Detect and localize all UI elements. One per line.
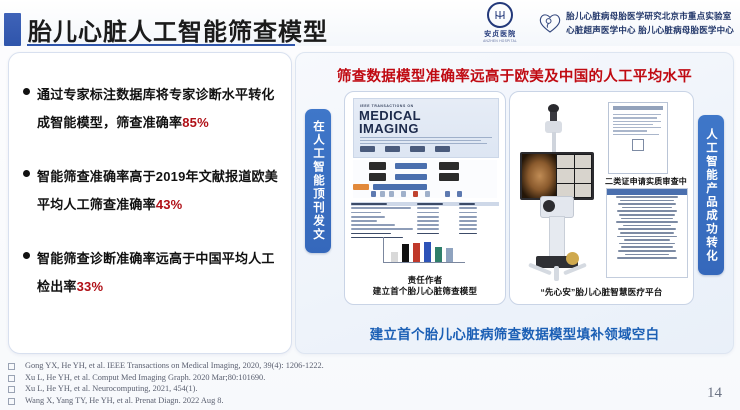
hospital-name: 安贞医院 <box>484 29 516 39</box>
lab-text: 胎儿心脏病母胎医学研究北京市重点实验室 心脏超声医学中心 胎儿心脏病母胎医学中心 <box>566 10 734 36</box>
vertical-pill-right: 人工智能产品成功转化 <box>698 115 724 275</box>
certificate-stamp-icon <box>632 139 644 151</box>
bullet-highlight: 43% <box>156 197 183 212</box>
right-panel: 筛查数据模型准确率远高于欧美及中国的人工平均水平 在人工智能顶刊发文 人工智能产… <box>295 52 734 354</box>
lab-line-1: 胎儿心脏病母胎医学研究北京市重点实验室 <box>566 10 734 22</box>
reference-text: Xu L, He YH, et al. Comput Med Imaging G… <box>25 372 265 383</box>
title-accent-bar <box>4 13 21 46</box>
bullet-item: 智能筛查诊断准确率远高于中国平均人工检出率33% <box>23 245 279 301</box>
results-table <box>351 202 499 240</box>
journal-cover-thumbnail: IEEE TRANSACTIONS ON MEDICAL IMAGING <box>353 98 499 158</box>
bullet-text: 通过专家标注数据库将专家诊断水平转化成智能模型，筛查准确率85% <box>37 81 279 137</box>
caption-line-1: 责任作者 <box>345 275 505 286</box>
ultrasound-image <box>522 154 556 198</box>
bullet-highlight: 85% <box>182 115 209 130</box>
hospital-circle-icon <box>487 2 513 28</box>
lab-block: 胎儿心脏病母胎医学研究北京市重点实验室 心脏超声医学中心 胎儿心脏病母胎医学中心 <box>537 10 734 36</box>
bullet-dot-icon <box>23 252 30 259</box>
square-bullet-icon <box>8 386 15 393</box>
journal-cover-lines <box>360 137 492 146</box>
ultrasound-machine-illustration <box>518 104 604 282</box>
ultrasound-thumbnails <box>556 154 592 198</box>
reference-item: Gong YX, He YH, et al. IEEE Transactions… <box>8 360 608 372</box>
bullet-text: 智能筛查诊断准确率远高于中国平均人工检出率33% <box>37 245 279 301</box>
ultrasound-screen <box>520 152 594 200</box>
slide: 胎儿心脏人工智能筛查模型 安贞医院 ANZHEN HOSPITAL <box>0 0 740 410</box>
paper-card-caption: 责任作者 建立首个胎儿心脏筛查模型 <box>345 275 505 297</box>
paper-image-card: IEEE TRANSACTIONS ON MEDICAL IMAGING <box>344 91 506 305</box>
hospital-list <box>606 188 688 278</box>
journal-title: MEDICAL IMAGING <box>359 109 421 135</box>
bullet-dot-icon <box>23 170 30 177</box>
title-underline <box>27 44 295 46</box>
red-headline: 筛查数据模型准确率远高于欧美及中国的人工平均水平 <box>296 65 733 86</box>
reference-text: Xu L, He YH, et al. Neurocomputing, 2021… <box>25 383 198 394</box>
pipeline-figure <box>353 160 497 198</box>
square-bullet-icon <box>8 398 15 405</box>
certificate-caption: 二类证申请实质审查中 <box>602 176 690 187</box>
bullet-item: 智能筛查准确率高于2019年文献报道欧美平均人工筛查准确率43% <box>23 163 279 219</box>
caption-line-2: 建立首个胎儿心脏筛查模型 <box>345 286 505 297</box>
hospital-name-en: ANZHEN HOSPITAL <box>483 39 517 43</box>
lab-line-2: 心脏超声医学中心 胎儿心脏病母胎医学中心 <box>566 24 734 36</box>
page-number: 14 <box>707 385 722 402</box>
reference-text: Gong YX, He YH, et al. IEEE Transactions… <box>25 360 324 371</box>
bullet-body: 通过专家标注数据库将专家诊断水平转化成智能模型，筛查准确率 <box>37 87 275 130</box>
bullet-dot-icon <box>23 88 30 95</box>
blue-banner-text: 建立首个胎儿心脏病筛查数据模型填补领域空白 <box>296 323 733 343</box>
journal-cover-logos <box>360 146 450 152</box>
heart-fetus-icon <box>537 10 563 36</box>
journal-title-line-2: IMAGING <box>359 122 421 135</box>
reference-text: Wang X, Yang TY, He YH, et al. Prenat Di… <box>25 395 224 406</box>
square-bullet-icon <box>8 375 15 382</box>
certificate-document <box>608 102 668 174</box>
reference-item: Wang X, Yang TY, He YH, et al. Prenat Di… <box>8 395 608 407</box>
page-title: 胎儿心脏人工智能筛查模型 <box>28 12 328 47</box>
references-list: Gong YX, He YH, et al. IEEE Transactions… <box>8 360 608 406</box>
bullets-card: 通过专家标注数据库将专家诊断水平转化成智能模型，筛查准确率85% 智能筛查准确率… <box>8 52 292 354</box>
bullet-body: 智能筛查诊断准确率远高于中国平均人工检出率 <box>37 251 275 294</box>
slide-header: 胎儿心脏人工智能筛查模型 安贞医院 ANZHEN HOSPITAL <box>0 0 740 46</box>
reference-item: Xu L, He YH, et al. Neurocomputing, 2021… <box>8 383 608 395</box>
product-card-caption: “先心安”胎儿心脏智慧医疗平台 <box>510 287 693 298</box>
accuracy-bar-chart <box>383 237 465 263</box>
product-image-card: 二类证申请实质审查中 <box>509 91 694 305</box>
bullet-item: 通过专家标注数据库将专家诊断水平转化成智能模型，筛查准确率85% <box>23 81 279 137</box>
square-bullet-icon <box>8 363 15 370</box>
hospital-logo: 安贞医院 ANZHEN HOSPITAL <box>469 2 531 43</box>
vertical-pill-left: 在人工智能顶刊发文 <box>305 109 331 253</box>
bullet-highlight: 33% <box>77 279 104 294</box>
logo-block: 安贞医院 ANZHEN HOSPITAL 胎儿心脏病母胎医学研究北京市重点实验室… <box>469 2 734 43</box>
reference-item: Xu L, He YH, et al. Comput Med Imaging G… <box>8 372 608 384</box>
bullet-text: 智能筛查准确率高于2019年文献报道欧美平均人工筛查准确率43% <box>37 163 279 219</box>
